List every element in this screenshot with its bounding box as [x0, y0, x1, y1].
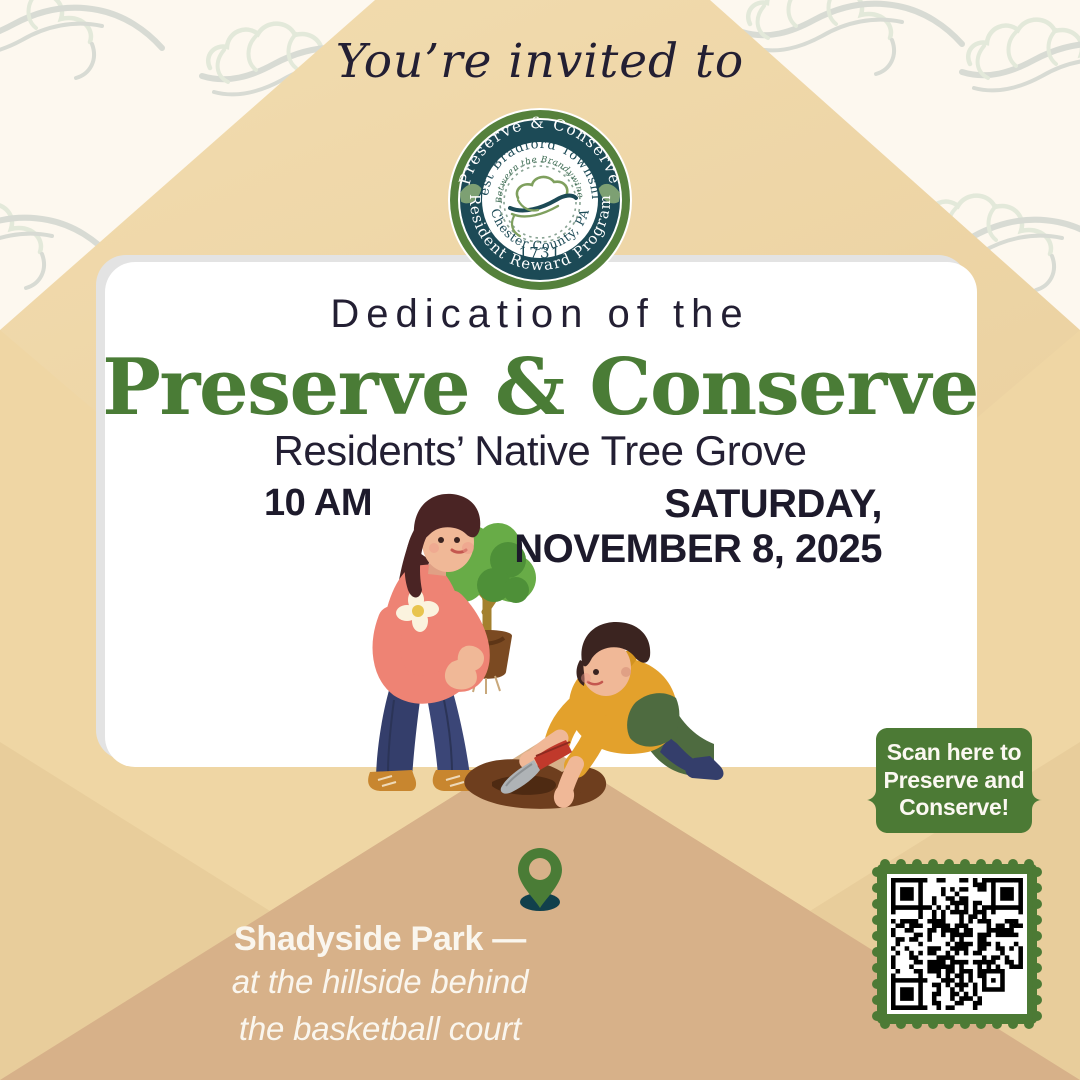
- woman-figure: [368, 494, 484, 791]
- qr-callout-line-1: Scan here to: [887, 739, 1021, 766]
- map-pin-icon: [500, 840, 580, 920]
- qr-callout-line-2: Preserve and: [884, 767, 1025, 794]
- event-subtitle: Residents’ Native Tree Grove: [0, 427, 1080, 475]
- seal-year: 1731: [519, 244, 562, 262]
- location-name: Shadyside Park —: [0, 920, 760, 959]
- invitation-canvas: Preserve & Conserve Resident Reward Prog…: [0, 0, 1080, 1080]
- event-date: SATURDAY, NOVEMBER 8, 2025: [514, 482, 882, 572]
- township-seal: Preserve & Conserve Resident Reward Prog…: [446, 106, 634, 294]
- qr-callout-text: Scan here to Preserve and Conserve!: [866, 728, 1042, 833]
- event-date-line-1: SATURDAY,: [514, 482, 882, 527]
- qr-callout-badge: Scan here to Preserve and Conserve!: [866, 728, 1042, 833]
- dedication-eyebrow: Dedication of the: [0, 292, 1080, 337]
- location-detail-line-2: the basketball court: [0, 1006, 760, 1053]
- qr-code[interactable]: [871, 858, 1043, 1030]
- page-title: Preserve & Conserve: [0, 342, 1080, 433]
- event-time: 10 AM: [264, 482, 372, 525]
- invited-heading: You’re invited to: [0, 34, 1080, 89]
- location-block: Shadyside Park — at the hillside behind …: [0, 920, 760, 1053]
- location-detail-line-1: at the hillside behind: [0, 959, 760, 1006]
- event-date-line-2: NOVEMBER 8, 2025: [514, 527, 882, 572]
- qr-callout-line-3: Conserve!: [899, 794, 1009, 821]
